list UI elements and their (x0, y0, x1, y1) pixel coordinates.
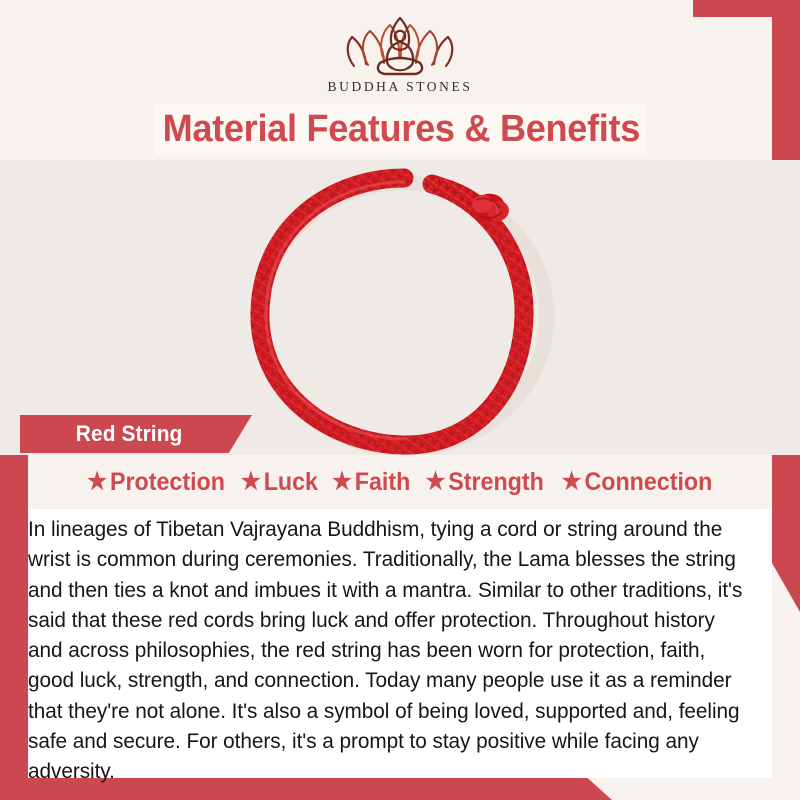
benefit-item-luck: ★ Luck (238, 468, 321, 497)
star-icon: ★ (87, 470, 107, 494)
benefit-label: Faith (354, 468, 410, 497)
title-band: Material Features & Benefits (155, 103, 647, 155)
benefit-label: Strength (448, 468, 544, 497)
product-label-banner: Red String (20, 415, 252, 453)
product-photo (0, 160, 800, 455)
benefit-label: Protection (110, 468, 225, 497)
benefit-item-connection: ★ Connection (559, 468, 715, 497)
red-braided-bracelet-image (236, 164, 586, 455)
star-icon: ★ (332, 470, 352, 494)
description-paragraph: In lineages of Tibetan Vajrayana Buddhis… (28, 509, 757, 788)
star-icon: ★ (425, 470, 445, 494)
benefits-list: ★ Protection ★ Luck ★ Faith ★ Strength ★… (28, 455, 772, 509)
benefit-item-strength: ★ Strength (423, 468, 547, 497)
product-label-text: Red String (76, 421, 183, 447)
star-icon: ★ (241, 470, 261, 494)
benefit-label: Luck (264, 468, 318, 497)
infographic-poster: BUDDHA STONES Material Features & Benefi… (0, 0, 800, 800)
page-title: Material Features & Benefits (162, 108, 640, 151)
description-panel: In lineages of Tibetan Vajrayana Buddhis… (28, 509, 772, 778)
lotus-meditation-figure-icon (342, 10, 458, 76)
benefit-item-protection: ★ Protection (84, 468, 227, 497)
benefit-label: Connection (585, 468, 713, 497)
benefit-item-faith: ★ Faith (329, 468, 413, 497)
brand-logo: BUDDHA STONES (0, 10, 800, 95)
brand-wordmark: BUDDHA STONES (0, 79, 800, 95)
star-icon: ★ (562, 470, 582, 494)
